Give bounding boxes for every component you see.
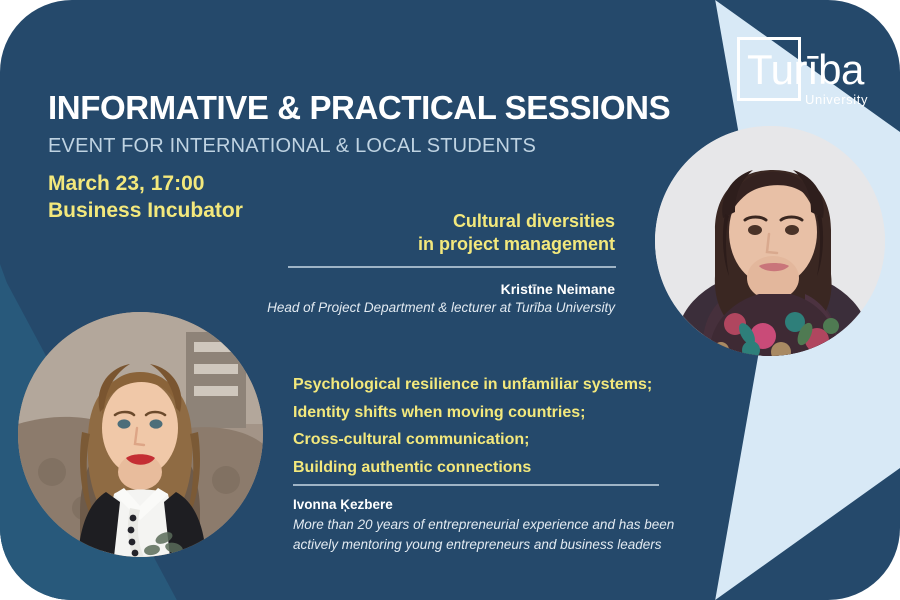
speaker-two-bio: More than 20 years of entrepreneurial ex… xyxy=(293,515,693,554)
logo-wordmark: Turība xyxy=(747,49,864,91)
speaker-two-topic-line-2: Identity shifts when moving countries; xyxy=(293,399,652,427)
speaker-one-topic-line-1: Cultural diversities xyxy=(215,210,615,233)
turiba-university-logo: Turība University xyxy=(731,33,891,113)
speaker-one-name: Kristīne Neimane xyxy=(215,281,615,297)
speaker-two-bio-line-2: actively mentoring young entrepreneurs a… xyxy=(293,535,693,555)
speaker-two-name: Ivonna Ķezbere xyxy=(293,497,393,512)
event-date: March 23, 17:00 xyxy=(48,171,243,198)
poster-subheadline: EVENT FOR INTERNATIONAL & LOCAL STUDENTS xyxy=(48,135,536,158)
speaker-two-topic: Psychological resilience in unfamiliar s… xyxy=(293,371,652,481)
logo-subtext: University xyxy=(805,92,868,107)
poster-background: Turība University INFORMATIVE & PRACTICA… xyxy=(0,0,900,600)
speaker-two-portrait-image xyxy=(18,312,263,557)
event-poster: Turība University INFORMATIVE & PRACTICA… xyxy=(0,0,900,600)
speaker-one-divider xyxy=(288,266,616,268)
speaker-two-divider xyxy=(293,484,659,486)
speaker-one-portrait-image xyxy=(655,126,885,356)
speaker-one-portrait xyxy=(655,126,885,356)
poster-headline: INFORMATIVE & PRACTICAL SESSIONS xyxy=(48,91,670,126)
event-details: March 23, 17:00 Business Incubator xyxy=(48,171,243,225)
speaker-two-topic-line-1: Psychological resilience in unfamiliar s… xyxy=(293,371,652,399)
speaker-one-topic-line-2: in project management xyxy=(215,233,615,256)
speaker-two-bio-line-1: More than 20 years of entrepreneurial ex… xyxy=(293,515,693,535)
speaker-one-topic: Cultural diversities in project manageme… xyxy=(215,210,615,256)
speaker-two-portrait xyxy=(18,312,263,557)
speaker-two-topic-line-4: Building authentic connections xyxy=(293,454,652,482)
speaker-two-topic-line-3: Cross-cultural communication; xyxy=(293,426,652,454)
speaker-one-bio: Head of Project Department & lecturer at… xyxy=(175,300,615,315)
event-venue: Business Incubator xyxy=(48,198,243,225)
